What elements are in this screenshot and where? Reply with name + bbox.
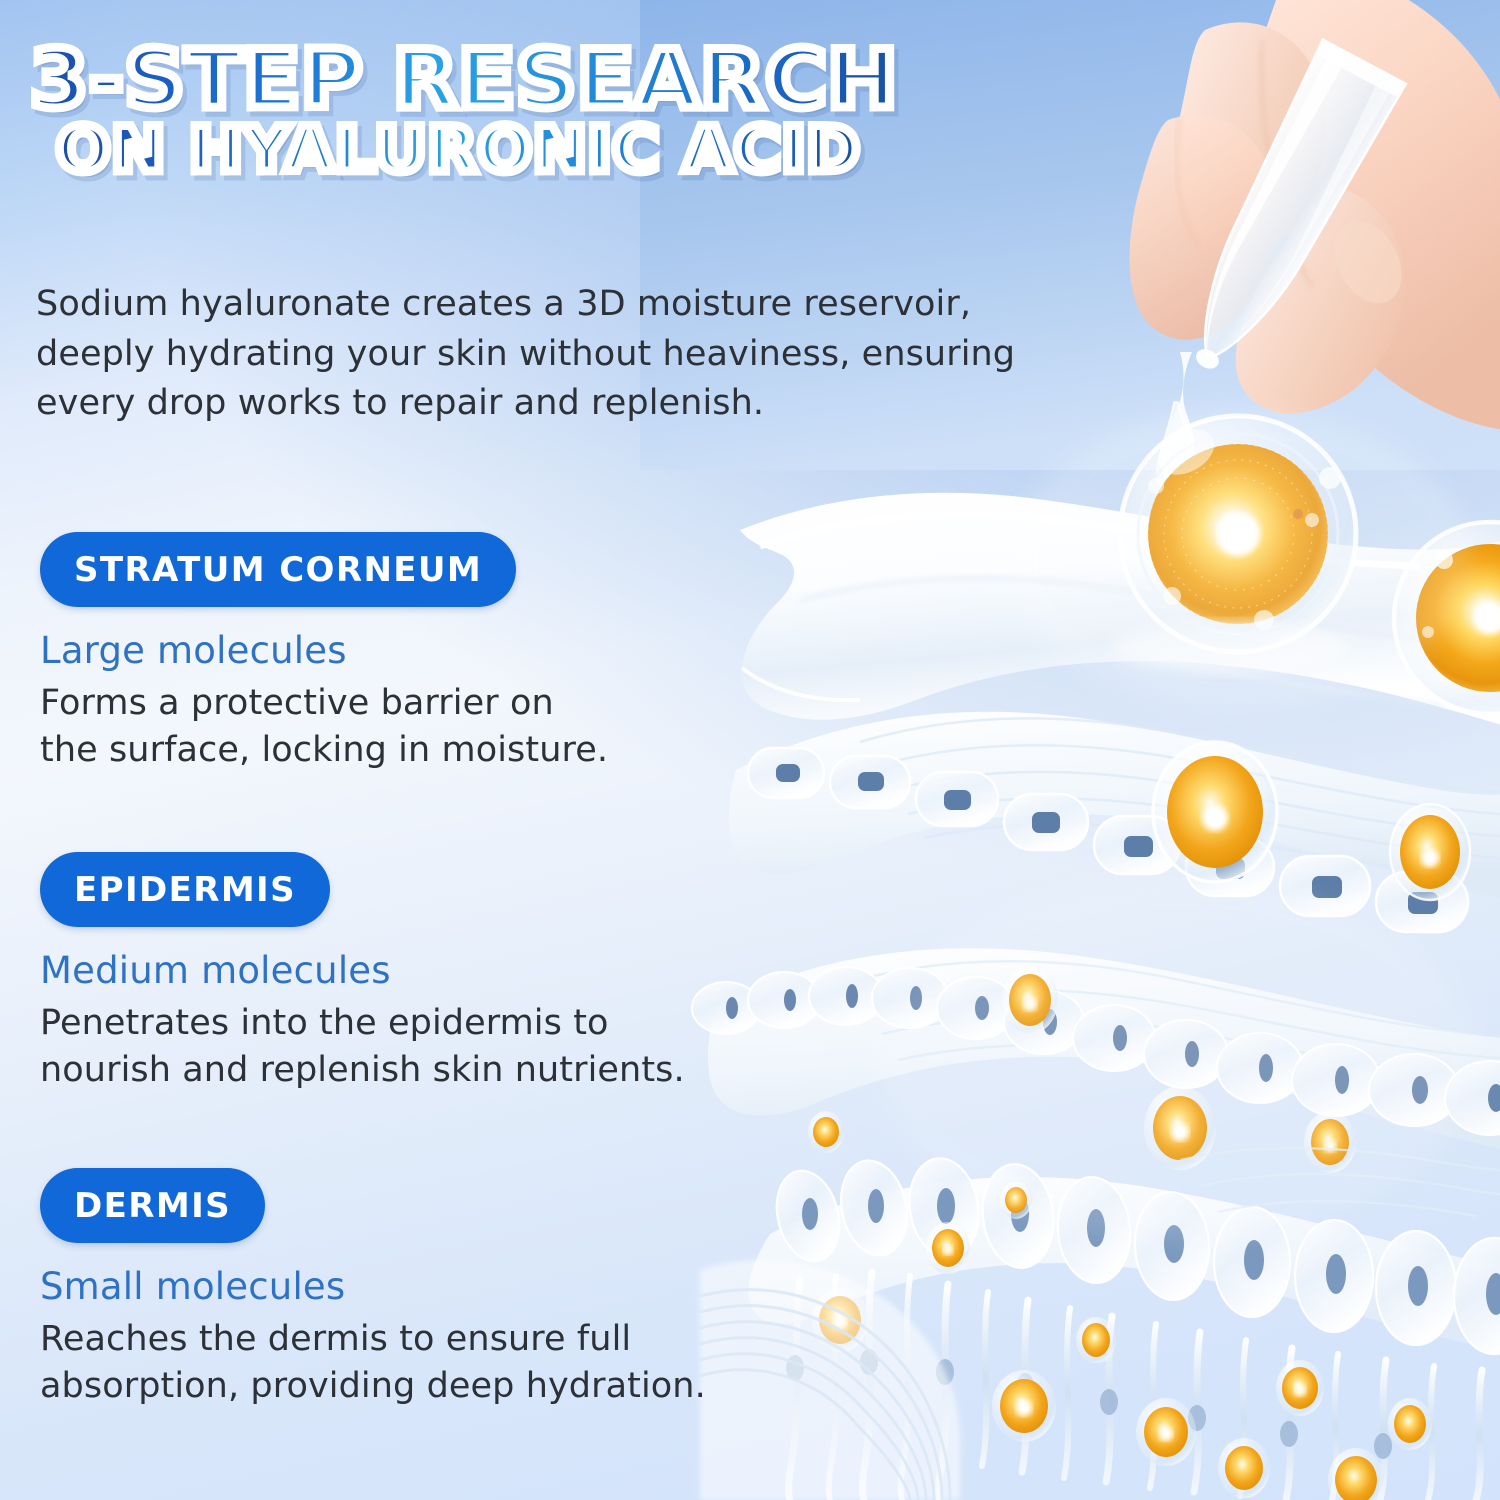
desc-line-2: nourish and replenish skin nutrients. xyxy=(40,1047,685,1094)
badge-epidermis: EPIDERMIS xyxy=(40,852,330,927)
title-line-1-text: 3-STEP RESEARCH xyxy=(30,33,898,126)
description-stratum-corneum: Forms a protective barrier on the surfac… xyxy=(40,680,608,774)
subtitle-medium-molecules: Medium molecules xyxy=(40,949,685,992)
intro-line-1: Sodium hyaluronate creates a 3D moisture… xyxy=(36,280,1136,330)
desc-line-1: Reaches the dermis to ensure full xyxy=(40,1316,706,1363)
title-line-1: 3-STEP RESEARCH 3-STEP RESEARCH xyxy=(30,42,1060,117)
intro-line-2: deeply hydrating your skin without heavi… xyxy=(36,330,1136,380)
desc-line-2: the surface, locking in moisture. xyxy=(40,727,608,774)
intro-paragraph: Sodium hyaluronate creates a 3D moisture… xyxy=(36,280,1136,429)
page-title: 3-STEP RESEARCH 3-STEP RESEARCH ON HYALU… xyxy=(30,42,1020,179)
subtitle-large-molecules: Large molecules xyxy=(40,629,608,672)
subtitle-small-molecules: Small molecules xyxy=(40,1265,706,1308)
layer-section-dermis: DERMIS Small molecules Reaches the dermi… xyxy=(40,1168,706,1410)
intro-line-3: every drop works to repair and replenish… xyxy=(36,379,1136,429)
description-epidermis: Penetrates into the epidermis to nourish… xyxy=(40,1000,685,1094)
description-dermis: Reaches the dermis to ensure full absorp… xyxy=(40,1316,706,1410)
layer-section-epidermis: EPIDERMIS Medium molecules Penetrates in… xyxy=(40,852,685,1094)
desc-line-1: Penetrates into the epidermis to xyxy=(40,1000,685,1047)
desc-line-1: Forms a protective barrier on xyxy=(40,680,608,727)
title-line-2: ON HYALURONIC ACID ON HYALURONIC ACID xyxy=(56,121,1049,179)
layer-section-stratum-corneum: STRATUM CORNEUM Large molecules Forms a … xyxy=(40,532,608,774)
desc-line-2: absorption, providing deep hydration. xyxy=(40,1363,706,1410)
title-line-2-text: ON HYALURONIC ACID xyxy=(56,113,861,186)
badge-dermis: DERMIS xyxy=(40,1168,265,1243)
badge-stratum-corneum: STRATUM CORNEUM xyxy=(40,532,516,607)
